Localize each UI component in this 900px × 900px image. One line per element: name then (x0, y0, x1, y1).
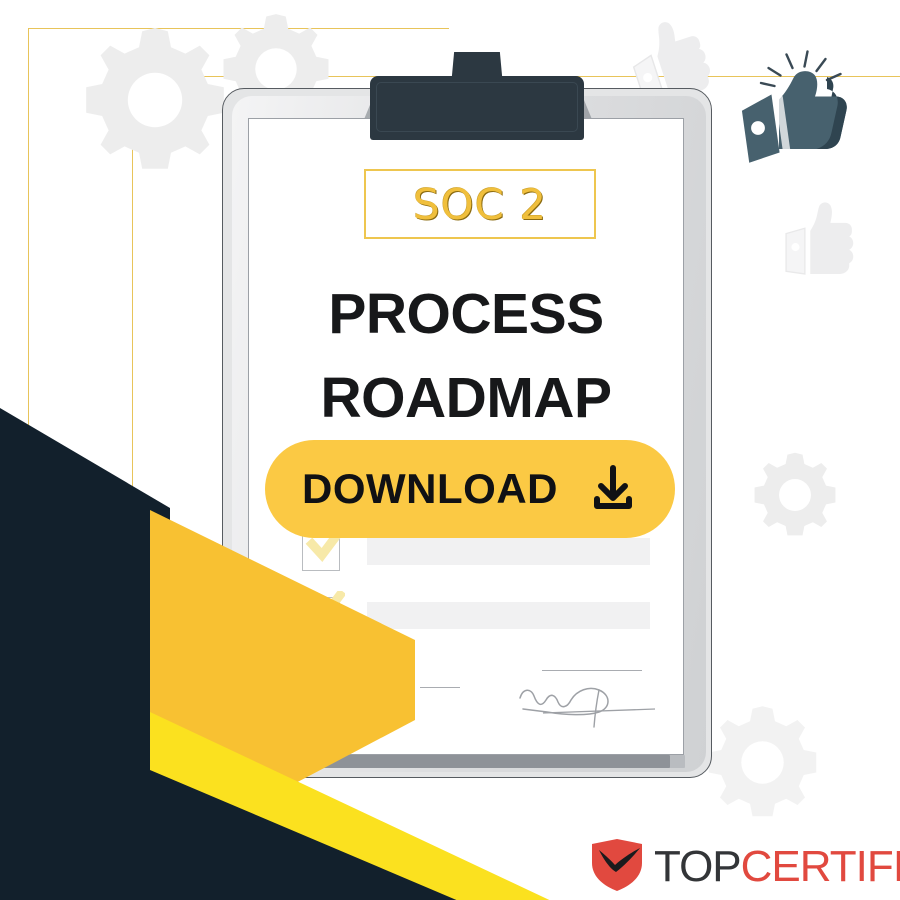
page-title: PROCESS ROADMAP (248, 272, 684, 440)
download-button[interactable]: DOWNLOAD (265, 440, 675, 538)
signature-rule-mid (420, 687, 460, 688)
text-placeholder-bar-2 (367, 602, 650, 629)
gear-icon-right-middle (748, 448, 842, 542)
thumbs-up-icon-primary (725, 50, 875, 200)
logo-text-certifier: CERTIFIER (741, 842, 900, 891)
brand-logo[interactable]: TOPCERTIFIER (588, 835, 900, 898)
headline-line-2: ROADMAP (248, 356, 684, 440)
clipboard-clip-body (370, 76, 584, 140)
text-placeholder-bar-1 (367, 538, 650, 565)
signature-scribble (515, 672, 660, 737)
headline-line-1: PROCESS (248, 272, 684, 356)
gear-icon-bottom-right (700, 700, 825, 825)
thumbs-up-icon-ghost-bottom (778, 196, 864, 282)
logo-text-top: TOP (654, 842, 741, 891)
shield-check-icon (588, 835, 646, 898)
logo-text: TOPCERTIFIER (654, 845, 900, 889)
poster-canvas: SOC 2 PROCESS ROADMAP DOWNLOAD (0, 0, 900, 900)
soc2-badge-label: SOC 2 (413, 180, 547, 229)
download-arrow-icon (588, 463, 638, 516)
soc2-badge: SOC 2 (364, 169, 596, 239)
gear-icon-top-left-large (75, 20, 235, 180)
download-button-label: DOWNLOAD (302, 465, 558, 513)
